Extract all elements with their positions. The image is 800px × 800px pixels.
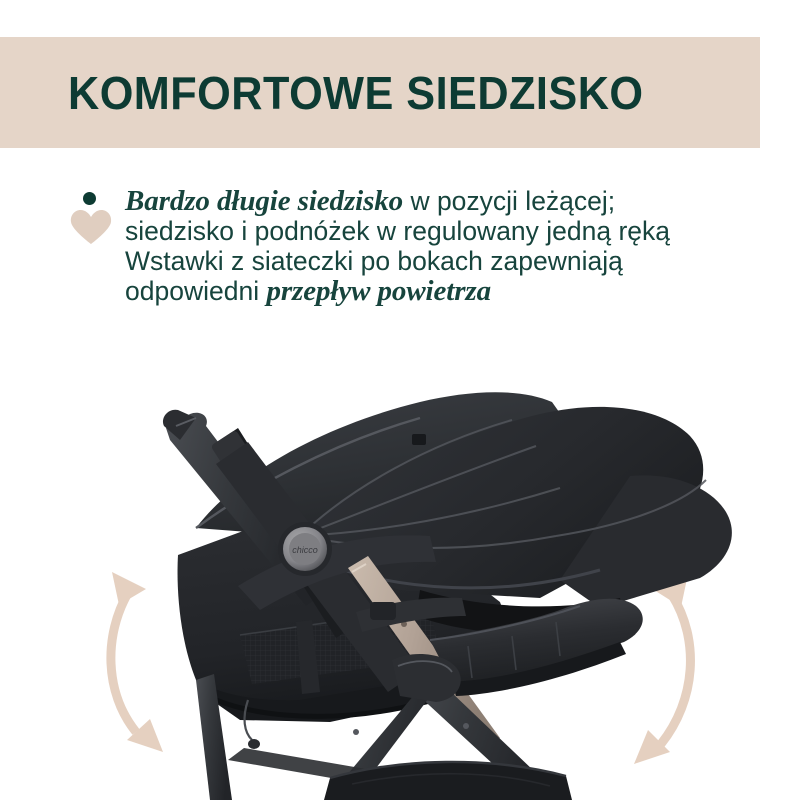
feature-plain-4: odpowiedni <box>125 276 266 306</box>
feature-text-line-3: Wstawki z siateczki po bokach zapewniają <box>125 246 725 276</box>
feature-text-line-4: odpowiedni przepływ powietrza <box>125 276 725 306</box>
feature-text: Bardzo długie siedzisko w pozycji leżące… <box>125 186 725 306</box>
recline-range-arrow-right <box>634 574 690 764</box>
header-banner: KOMFORTOWE SIEDZISKO <box>0 37 760 148</box>
feature-text-line-1: Bardzo długie siedzisko w pozycji leżące… <box>125 186 725 216</box>
heart-bullet-icon <box>70 192 116 244</box>
canopy-tab <box>412 434 426 445</box>
feature-plain-2: siedzisko i podnóżek w regulowany jedną … <box>125 216 670 246</box>
product-photo: DOLOMITI chicco <box>0 340 800 800</box>
page-title: KOMFORTOWE SIEDZISKO <box>68 70 644 116</box>
bullet-dot-icon <box>83 192 96 205</box>
feature-emphasis-2: przepływ powietrza <box>266 275 491 307</box>
recline-range-arrow-left <box>111 572 163 752</box>
heart-shape-icon <box>70 210 112 244</box>
brand-hub-badge: chicco <box>278 522 332 576</box>
brand-label: chicco <box>292 545 318 555</box>
feature-plain-3: Wstawki z siateczki po bokach zapewniają <box>125 246 623 276</box>
feature-text-line-2: siedzisko i podnóżek w regulowany jedną … <box>125 216 725 246</box>
feature-emphasis-1: Bardzo długie siedzisko <box>125 185 403 217</box>
feature-description-block: Bardzo długie siedzisko w pozycji leżące… <box>0 186 800 306</box>
feature-plain-1: w pozycji leżącej; <box>403 186 615 216</box>
